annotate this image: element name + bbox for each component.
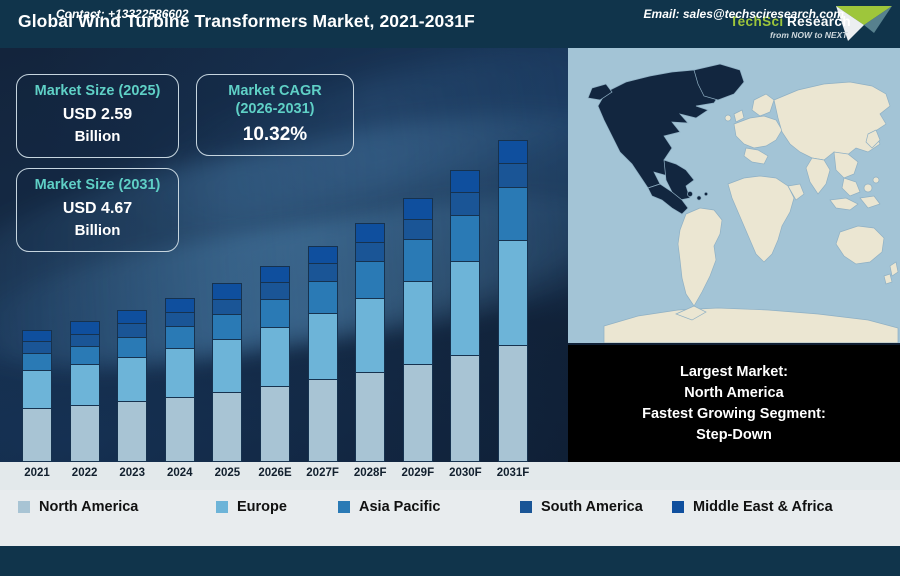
bar-stack-2024 — [165, 298, 195, 462]
bar-segment — [70, 346, 100, 364]
world-map — [568, 48, 900, 343]
bar-segment — [117, 310, 147, 323]
bar-segment — [498, 163, 528, 187]
callout-line-3: Fastest Growing Segment: — [642, 404, 826, 425]
x-axis-strip: 202120222023202420252026E2027F2028F2029F… — [0, 462, 900, 490]
bar-stack-2023 — [117, 310, 147, 462]
legend-label: Middle East & Africa — [693, 499, 833, 515]
bar-segment — [22, 341, 52, 353]
axis-tick-label: 2031F — [485, 467, 541, 479]
legend-item[interactable]: South America — [520, 499, 643, 515]
bar-segment — [22, 353, 52, 370]
bar-segment — [260, 266, 290, 282]
stacked-bar-chart — [0, 48, 566, 462]
legend-item[interactable]: Middle East & Africa — [672, 499, 833, 515]
bar-segment — [450, 192, 480, 214]
legend-swatch-icon — [338, 501, 350, 513]
bar-segment — [212, 283, 242, 298]
bar-stack-2022 — [70, 321, 100, 462]
bar-segment — [22, 330, 52, 342]
legend-item[interactable]: Europe — [216, 499, 287, 515]
bar-segment — [212, 392, 242, 462]
bar-segment — [260, 282, 290, 299]
svg-text:from NOW to NEXT: from NOW to NEXT — [770, 30, 848, 40]
legend-item[interactable]: North America — [18, 499, 138, 515]
callout-line-2: North America — [684, 383, 783, 404]
bar-segment — [403, 281, 433, 364]
legend-label: Europe — [237, 499, 287, 515]
bar-segment — [450, 355, 480, 462]
bar-segment — [498, 187, 528, 240]
legend-swatch-icon — [520, 501, 532, 513]
bar-segment — [212, 314, 242, 339]
bar-segment — [498, 240, 528, 345]
bar-segment — [212, 339, 242, 392]
legend-swatch-icon — [18, 501, 30, 513]
bar-segment — [403, 198, 433, 219]
legend-swatch-icon — [216, 501, 228, 513]
bar-segment — [450, 170, 480, 192]
bar-segment — [212, 299, 242, 314]
bar-segment — [165, 326, 195, 348]
bar-segment — [450, 215, 480, 262]
bar-segment — [355, 223, 385, 242]
bar-segment — [117, 357, 147, 401]
bar-segment — [117, 337, 147, 357]
bar-segment — [22, 370, 52, 408]
footer-email: Email: sales@techsciresearch.com — [644, 7, 844, 21]
legend-label: South America — [541, 499, 643, 515]
bar-segment — [403, 219, 433, 240]
footer-contact: Contact: +13322586602 — [56, 7, 188, 21]
bar-segment — [22, 408, 52, 462]
bar-segment — [70, 364, 100, 405]
bar-segment — [355, 261, 385, 298]
bar-segment — [70, 405, 100, 462]
callout-line-1: Largest Market: — [680, 362, 788, 383]
bar-segment — [308, 379, 338, 462]
bar-segment — [450, 261, 480, 355]
legend-label: Asia Pacific — [359, 499, 440, 515]
bar-segment — [355, 242, 385, 261]
bar-segment — [498, 345, 528, 462]
bar-stack-2027F — [308, 246, 338, 463]
bar-segment — [165, 348, 195, 396]
infographic-canvas: Global Wind Turbine Transformers Market,… — [0, 0, 900, 576]
bar-segment — [165, 298, 195, 312]
bar-stack-2030F — [450, 170, 480, 462]
bar-segment — [308, 246, 338, 263]
bar-segment — [165, 312, 195, 326]
bar-segment — [403, 239, 433, 280]
bar-segment — [355, 298, 385, 372]
bar-stack-2025 — [212, 283, 242, 462]
bar-segment — [260, 327, 290, 386]
bar-stack-2021 — [22, 330, 52, 462]
bar-segment — [117, 401, 147, 462]
bar-segment — [165, 397, 195, 463]
bar-segment — [403, 364, 433, 462]
bar-segment — [308, 281, 338, 313]
bar-segment — [355, 372, 385, 462]
bar-segment — [260, 299, 290, 327]
bar-stack-2031F — [498, 140, 528, 462]
legend-swatch-icon — [672, 501, 684, 513]
bar-segment — [70, 321, 100, 333]
bar-segment — [70, 334, 100, 346]
bar-segment — [117, 323, 147, 336]
footer-band — [0, 546, 900, 576]
callout-line-4: Step-Down — [696, 425, 772, 446]
bar-stack-2029F — [403, 198, 433, 462]
bar-segment — [260, 386, 290, 462]
legend-item[interactable]: Asia Pacific — [338, 499, 440, 515]
chart-legend: North AmericaEuropeAsia PacificSouth Ame… — [0, 490, 900, 530]
callout-box: Largest Market: North America Fastest Gr… — [568, 345, 900, 462]
bar-stack-2026E — [260, 266, 290, 462]
bar-segment — [498, 140, 528, 163]
bar-stack-2028F — [355, 223, 385, 462]
bar-segment — [308, 313, 338, 379]
legend-label: North America — [39, 499, 138, 515]
bar-segment — [308, 263, 338, 281]
